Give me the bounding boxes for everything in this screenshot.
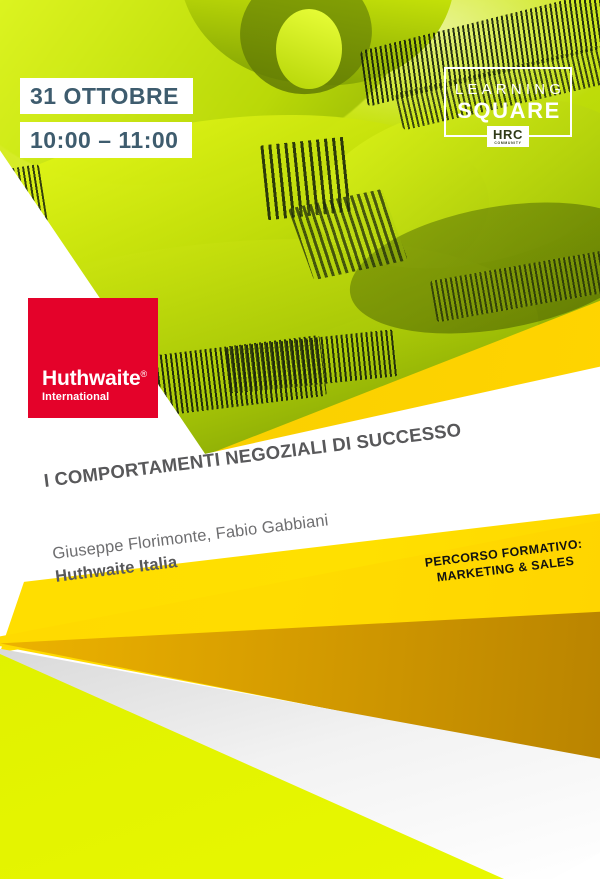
hrc-badge: HRC COMMUNITY bbox=[487, 126, 529, 147]
event-time: 10:00 – 11:00 bbox=[20, 122, 192, 158]
hrc-badge-label: HRC bbox=[493, 128, 523, 141]
learning-square-logo-line2: SQUARE bbox=[455, 99, 561, 122]
event-datetime: 31 OTTOBRE 10:00 – 11:00 bbox=[20, 78, 193, 158]
huthwaite-logo: Huthwaite® International bbox=[28, 298, 158, 418]
huthwaite-logo-subtitle: International bbox=[42, 391, 158, 404]
huthwaite-logo-wordmark: Huthwaite bbox=[42, 367, 141, 390]
learning-square-logo: LEARNING SQUARE HRC COMMUNITY bbox=[444, 67, 572, 137]
event-date: 31 OTTOBRE bbox=[20, 78, 193, 114]
hrc-badge-sublabel: COMMUNITY bbox=[494, 141, 521, 146]
registered-trademark-icon: ® bbox=[141, 369, 147, 379]
huthwaite-logo-name: Huthwaite® bbox=[42, 368, 158, 389]
event-poster: 31 OTTOBRE 10:00 – 11:00 LEARNING SQUARE… bbox=[0, 0, 600, 879]
learning-square-logo-line1: LEARNING bbox=[451, 82, 565, 97]
